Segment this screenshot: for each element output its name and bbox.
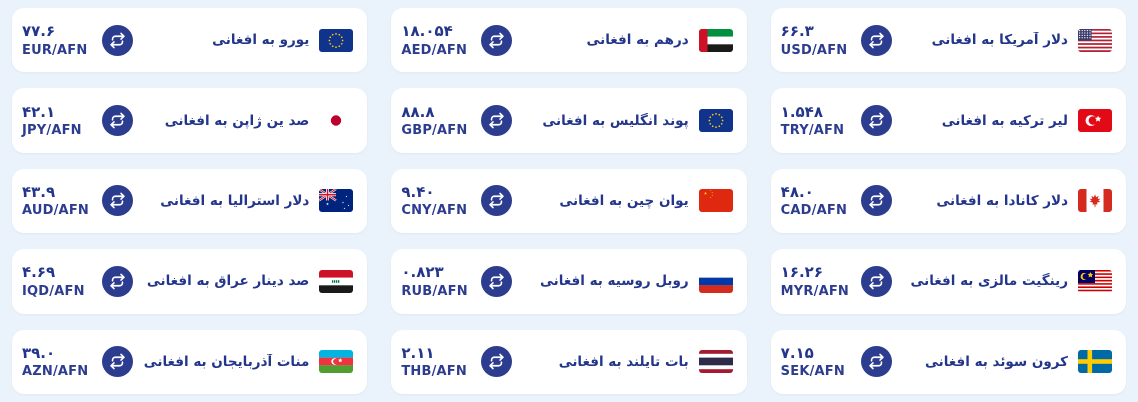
- exchange-swap-icon[interactable]: [102, 185, 133, 216]
- rate-value-block: ۷.۱۵SEK/AFN: [781, 343, 855, 381]
- flag-thailand: [699, 350, 733, 373]
- rate-value-block: ۴۳.۹AUD/AFN: [22, 182, 96, 220]
- rate-cell: پوند انگلیس به افغانی۸۸.۸GBP/AFN: [379, 80, 758, 160]
- rate-value-block: ۱۸.۰۵۴AED/AFN: [401, 21, 475, 59]
- currency-rate-card[interactable]: صد ین ژاپن به افغانی۴۲.۱JPY/AFN: [12, 88, 367, 152]
- exchange-swap-icon[interactable]: [861, 185, 892, 216]
- currency-rate-card[interactable]: بات تایلند به افغانی۲.۱۱THB/AFN: [391, 330, 746, 394]
- flag-united-arab-emirates: [699, 29, 733, 52]
- currency-pair-code: AZN/AFN: [22, 363, 88, 381]
- currency-pair-code: CAD/AFN: [781, 202, 847, 220]
- currency-pair-label: لیر ترکیه به افغانی: [892, 113, 1078, 129]
- rate-value-block: ۶۶.۳USD/AFN: [781, 21, 855, 59]
- currency-pair-label: منات آذربایجان به افغانی: [133, 354, 319, 370]
- flag-iraq: [319, 270, 353, 293]
- rate-value: ۱.۵۴۸: [781, 102, 823, 122]
- rate-cell: درهم به افغانی۱۸.۰۵۴AED/AFN: [379, 0, 758, 80]
- flag-united-states: [1078, 29, 1112, 52]
- rate-cell: یوان چین به افغانی۹.۴۰CNY/AFN: [379, 161, 758, 241]
- currency-pair-label: دلار استرالیا به افغانی: [133, 193, 319, 209]
- rate-value: ۴۲.۱: [22, 102, 55, 122]
- currency-pair-code: THB/AFN: [401, 363, 467, 381]
- rate-cell: صد ین ژاپن به افغانی۴۲.۱JPY/AFN: [0, 80, 379, 160]
- exchange-swap-icon[interactable]: [481, 105, 512, 136]
- currency-pair-label: صد ین ژاپن به افغانی: [133, 113, 319, 129]
- rate-value-block: ۱.۵۴۸TRY/AFN: [781, 102, 855, 140]
- rate-cell: منات آذربایجان به افغانی۳۹.۰AZN/AFN: [0, 322, 379, 402]
- currency-rate-card[interactable]: صد دینار عراق به افغانی۴.۶۹IQD/AFN: [12, 249, 367, 313]
- rate-value: ۳۹.۰: [22, 343, 55, 363]
- rate-value-block: ۳۹.۰AZN/AFN: [22, 343, 96, 381]
- currency-pair-code: CNY/AFN: [401, 202, 467, 220]
- flag-turkey: [1078, 109, 1112, 132]
- currency-rate-card[interactable]: دلار استرالیا به افغانی۴۳.۹AUD/AFN: [12, 169, 367, 233]
- rate-cell: یورو به افغانی۷۷.۶EUR/AFN: [0, 0, 379, 80]
- rate-value: ۰.۸۲۳: [401, 262, 443, 282]
- currency-rate-card[interactable]: لیر ترکیه به افغانی۱.۵۴۸TRY/AFN: [771, 88, 1126, 152]
- rate-value-block: ۲.۱۱THB/AFN: [401, 343, 475, 381]
- currency-pair-label: رینگیت مالزی به افغانی: [892, 273, 1078, 289]
- flag-australia: [319, 189, 353, 212]
- rate-value: ۹.۴۰: [401, 182, 434, 202]
- exchange-swap-icon[interactable]: [861, 346, 892, 377]
- rate-cell: صد دینار عراق به افغانی۴.۶۹IQD/AFN: [0, 241, 379, 321]
- currency-pair-label: کرون سوئد به افغانی: [892, 354, 1078, 370]
- rate-cell: کرون سوئد به افغانی۷.۱۵SEK/AFN: [759, 322, 1138, 402]
- currency-rate-card[interactable]: درهم به افغانی۱۸.۰۵۴AED/AFN: [391, 8, 746, 72]
- flag-sweden: [1078, 350, 1112, 373]
- rate-cell: رینگیت مالزی به افغانی۱۶.۲۶MYR/AFN: [759, 241, 1138, 321]
- currency-rate-card[interactable]: دلار آمریکا به افغانی۶۶.۳USD/AFN: [771, 8, 1126, 72]
- currency-rate-card[interactable]: یورو به افغانی۷۷.۶EUR/AFN: [12, 8, 367, 72]
- rate-value: ۱۶.۲۶: [781, 262, 823, 282]
- rate-value-block: ۴۸.۰CAD/AFN: [781, 182, 855, 220]
- exchange-swap-icon[interactable]: [481, 25, 512, 56]
- flag-canada: [1078, 189, 1112, 212]
- currency-pair-label: بات تایلند به افغانی: [512, 354, 698, 370]
- currency-pair-code: EUR/AFN: [22, 42, 87, 60]
- currency-rate-card[interactable]: روبل روسیه به افغانی۰.۸۲۳RUB/AFN: [391, 249, 746, 313]
- flag-european-union: [699, 109, 733, 132]
- exchange-swap-icon[interactable]: [861, 25, 892, 56]
- currency-pair-label: روبل روسیه به افغانی: [512, 273, 698, 289]
- currency-rates-grid: دلار آمریکا به افغانی۶۶.۳USD/AFNدرهم به …: [0, 0, 1138, 402]
- currency-pair-label: یوان چین به افغانی: [512, 193, 698, 209]
- exchange-swap-icon[interactable]: [861, 105, 892, 136]
- exchange-swap-icon[interactable]: [102, 266, 133, 297]
- currency-pair-label: دلار کانادا به افغانی: [892, 193, 1078, 209]
- exchange-swap-icon[interactable]: [481, 266, 512, 297]
- currency-pair-code: AED/AFN: [401, 42, 467, 60]
- exchange-swap-icon[interactable]: [102, 105, 133, 136]
- rate-value-block: ۰.۸۲۳RUB/AFN: [401, 262, 475, 300]
- currency-pair-label: دلار آمریکا به افغانی: [892, 32, 1078, 48]
- currency-pair-code: IQD/AFN: [22, 283, 85, 301]
- currency-pair-label: یورو به افغانی: [133, 32, 319, 48]
- currency-pair-label: صد دینار عراق به افغانی: [133, 273, 319, 289]
- rate-value-block: ۴۲.۱JPY/AFN: [22, 102, 96, 140]
- rate-cell: دلار آمریکا به افغانی۶۶.۳USD/AFN: [759, 0, 1138, 80]
- currency-rate-card[interactable]: پوند انگلیس به افغانی۸۸.۸GBP/AFN: [391, 88, 746, 152]
- rate-value: ۷.۱۵: [781, 343, 814, 363]
- currency-pair-code: USD/AFN: [781, 42, 848, 60]
- currency-rate-card[interactable]: یوان چین به افغانی۹.۴۰CNY/AFN: [391, 169, 746, 233]
- rate-value-block: ۱۶.۲۶MYR/AFN: [781, 262, 855, 300]
- exchange-swap-icon[interactable]: [481, 185, 512, 216]
- rate-value: ۷۷.۶: [22, 21, 55, 41]
- currency-rate-card[interactable]: منات آذربایجان به افغانی۳۹.۰AZN/AFN: [12, 330, 367, 394]
- rate-value: ۴۳.۹: [22, 182, 55, 202]
- rate-value-block: ۹.۴۰CNY/AFN: [401, 182, 475, 220]
- rate-value: ۲.۱۱: [401, 343, 434, 363]
- currency-pair-code: MYR/AFN: [781, 283, 849, 301]
- rate-value: ۴۸.۰: [781, 182, 814, 202]
- flag-china: [699, 189, 733, 212]
- currency-rate-card[interactable]: کرون سوئد به افغانی۷.۱۵SEK/AFN: [771, 330, 1126, 394]
- flag-malaysia: [1078, 270, 1112, 293]
- currency-pair-code: SEK/AFN: [781, 363, 845, 381]
- rate-value: ۴.۶۹: [22, 262, 55, 282]
- rate-value-block: ۴.۶۹IQD/AFN: [22, 262, 96, 300]
- rate-cell: دلار کانادا به افغانی۴۸.۰CAD/AFN: [759, 161, 1138, 241]
- rate-value-block: ۷۷.۶EUR/AFN: [22, 21, 96, 59]
- flag-azerbaijan: [319, 350, 353, 373]
- currency-pair-code: GBP/AFN: [401, 122, 467, 140]
- currency-pair-label: پوند انگلیس به افغانی: [512, 113, 698, 129]
- flag-japan: [319, 109, 353, 132]
- currency-rate-card[interactable]: دلار کانادا به افغانی۴۸.۰CAD/AFN: [771, 169, 1126, 233]
- currency-pair-code: RUB/AFN: [401, 283, 467, 301]
- currency-pair-code: JPY/AFN: [22, 122, 82, 140]
- exchange-swap-icon[interactable]: [481, 346, 512, 377]
- exchange-swap-icon[interactable]: [102, 25, 133, 56]
- rate-value: ۶۶.۳: [781, 21, 814, 41]
- flag-russia: [699, 270, 733, 293]
- currency-pair-label: درهم به افغانی: [512, 32, 698, 48]
- rate-cell: لیر ترکیه به افغانی۱.۵۴۸TRY/AFN: [759, 80, 1138, 160]
- currency-pair-code: AUD/AFN: [22, 202, 89, 220]
- currency-rate-card[interactable]: رینگیت مالزی به افغانی۱۶.۲۶MYR/AFN: [771, 249, 1126, 313]
- rate-value: ۱۸.۰۵۴: [401, 21, 452, 41]
- exchange-swap-icon[interactable]: [102, 346, 133, 377]
- flag-european-union: [319, 29, 353, 52]
- currency-pair-code: TRY/AFN: [781, 122, 845, 140]
- rate-cell: بات تایلند به افغانی۲.۱۱THB/AFN: [379, 322, 758, 402]
- rate-value-block: ۸۸.۸GBP/AFN: [401, 102, 475, 140]
- rate-value: ۸۸.۸: [401, 102, 434, 122]
- exchange-swap-icon[interactable]: [861, 266, 892, 297]
- rate-cell: روبل روسیه به افغانی۰.۸۲۳RUB/AFN: [379, 241, 758, 321]
- rate-cell: دلار استرالیا به افغانی۴۳.۹AUD/AFN: [0, 161, 379, 241]
